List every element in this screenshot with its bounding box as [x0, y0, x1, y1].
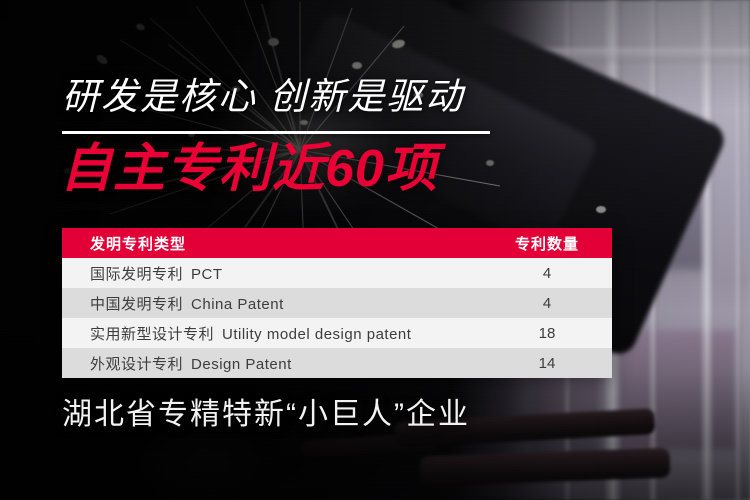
- patent-type-cn: 国际发明专利: [90, 266, 183, 283]
- column-header-patent-type: 发明专利类型: [62, 233, 482, 254]
- headline-primary: 研发是核心 创新是驱动: [62, 78, 464, 115]
- table-row: 实用新型设计专利Utility model design patent 18: [62, 318, 612, 348]
- cell-patent-type: 中国发明专利China Patent: [62, 293, 482, 314]
- patent-type-cn: 外观设计专利: [90, 356, 183, 373]
- table-header-row: 发明专利类型 专利数量: [62, 228, 612, 258]
- patent-type-cn: 实用新型设计专利: [90, 326, 214, 343]
- infographic-banner: 研发是核心 创新是驱动 自主专利近60项 发明专利类型 专利数量 国际发明专利P…: [0, 0, 750, 500]
- cell-patent-count: 4: [482, 295, 612, 312]
- cell-patent-type: 实用新型设计专利Utility model design patent: [62, 323, 482, 344]
- patent-type-en: China Patent: [191, 296, 284, 313]
- cell-patent-type: 国际发明专利PCT: [62, 263, 482, 284]
- headline-divider: [62, 131, 490, 134]
- patent-type-en: PCT: [191, 266, 223, 283]
- cell-patent-count: 4: [482, 265, 612, 282]
- table-row: 外观设计专利Design Patent 14: [62, 348, 612, 378]
- patent-type-cn: 中国发明专利: [90, 296, 183, 313]
- banner-content: 研发是核心 创新是驱动 自主专利近60项 发明专利类型 专利数量 国际发明专利P…: [0, 0, 750, 500]
- column-header-patent-count: 专利数量: [482, 233, 612, 254]
- patent-type-en: Design Patent: [191, 356, 292, 373]
- cell-patent-count: 18: [482, 325, 612, 342]
- table-row: 中国发明专利China Patent 4: [62, 288, 612, 318]
- cell-patent-count: 14: [482, 355, 612, 372]
- headline-highlight: 自主专利近60项: [60, 143, 438, 195]
- cell-patent-type: 外观设计专利Design Patent: [62, 353, 482, 374]
- patent-table: 发明专利类型 专利数量 国际发明专利PCT 4 中国发明专利China Pate…: [62, 228, 612, 378]
- table-row: 国际发明专利PCT 4: [62, 258, 612, 288]
- patent-type-en: Utility model design patent: [222, 326, 411, 343]
- footer-caption: 湖北省专精特新“小巨人”企业: [62, 400, 470, 430]
